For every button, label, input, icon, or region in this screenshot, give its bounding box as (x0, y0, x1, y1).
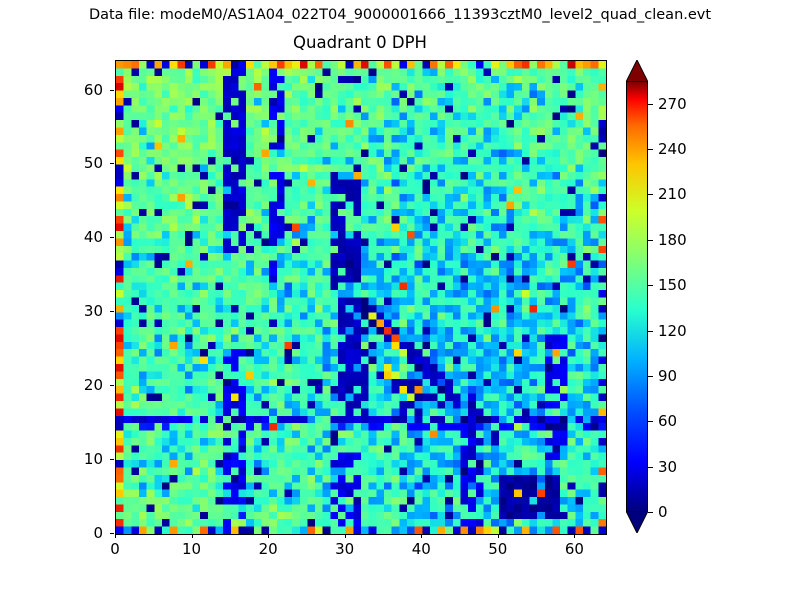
x-tick-mark (115, 534, 116, 538)
y-tick-mark (110, 385, 114, 386)
colorbar-tick-mark (648, 104, 653, 105)
colorbar-tick-label: 240 (658, 141, 687, 157)
colorbar-tick-mark (648, 376, 653, 377)
x-tick-mark (192, 534, 193, 538)
x-tick-label: 60 (544, 541, 604, 557)
colorbar-tick-mark (648, 331, 653, 332)
colorbar-tick-label: 270 (658, 96, 687, 112)
colorbar-tick-label: 0 (658, 504, 668, 520)
heatmap-image[interactable] (116, 61, 606, 534)
colorbar-tick-label: 120 (658, 323, 687, 339)
x-tick-label: 40 (391, 541, 451, 557)
y-tick-mark (110, 163, 114, 164)
x-tick-label: 20 (238, 541, 298, 557)
x-tick-label: 30 (315, 541, 375, 557)
y-tick-mark (110, 237, 114, 238)
y-tick-label: 0 (43, 525, 103, 541)
colorbar-extend-high-arrow-icon (626, 60, 648, 82)
colorbar-tick-label: 30 (658, 459, 677, 475)
colorbar-tick-mark (648, 421, 653, 422)
x-tick-label: 50 (468, 541, 528, 557)
colorbar-tick-mark (648, 467, 653, 468)
y-tick-mark (110, 533, 114, 534)
y-tick-label: 30 (43, 303, 103, 319)
y-tick-label: 40 (43, 229, 103, 245)
x-tick-mark (498, 534, 499, 538)
colorbar-tick-label: 210 (658, 186, 687, 202)
colorbar-tick-label: 180 (658, 232, 687, 248)
heatmap-axes[interactable] (115, 60, 607, 535)
colorbar-tick-mark (648, 240, 653, 241)
x-tick-mark (345, 534, 346, 538)
figure-canvas: Data file: modeM0/AS1A04_022T04_90000016… (0, 0, 800, 600)
y-tick-mark (110, 90, 114, 91)
colorbar[interactable]: 0306090120150180210240270 (626, 60, 648, 533)
y-tick-label: 10 (43, 451, 103, 467)
colorbar-tick-mark (648, 512, 653, 513)
colorbar-tick-label: 150 (658, 277, 687, 293)
colorbar-tick-mark (648, 285, 653, 286)
x-tick-mark (421, 534, 422, 538)
x-tick-mark (574, 534, 575, 538)
y-tick-mark (110, 311, 114, 312)
colorbar-extend-low-arrow-icon (626, 511, 648, 533)
colorbar-tick-label: 60 (658, 413, 677, 429)
x-tick-label: 10 (162, 541, 222, 557)
colorbar-gradient[interactable] (626, 81, 648, 512)
y-tick-label: 60 (43, 82, 103, 98)
y-tick-label: 50 (43, 155, 103, 171)
y-tick-label: 20 (43, 377, 103, 393)
colorbar-tick-label: 90 (658, 368, 677, 384)
axes-title: Quadrant 0 DPH (115, 33, 605, 53)
colorbar-tick-mark (648, 149, 653, 150)
x-tick-label: 0 (85, 541, 145, 557)
data-file-suptitle: Data file: modeM0/AS1A04_022T04_90000016… (0, 6, 800, 24)
y-tick-mark (110, 459, 114, 460)
colorbar-tick-mark (648, 194, 653, 195)
x-tick-mark (268, 534, 269, 538)
